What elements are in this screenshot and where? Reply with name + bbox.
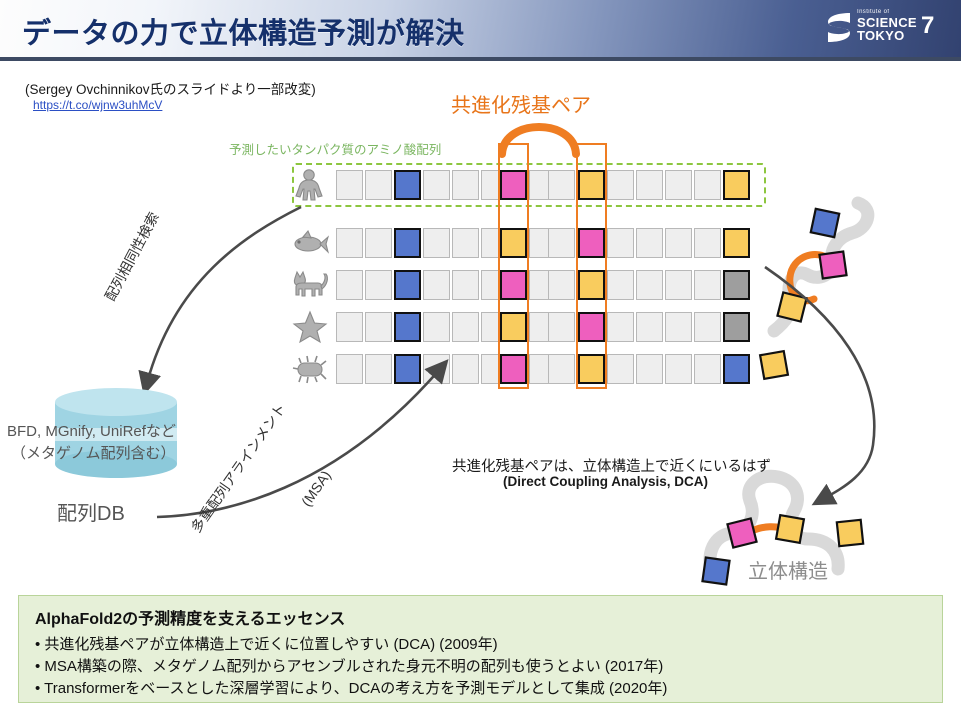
highlight-column-left	[498, 143, 529, 389]
msa-cell	[423, 312, 450, 342]
msa-cell	[636, 312, 663, 342]
summary-bullet: • 共進化残基ペアが立体構造上で近くに位置しやすい (DCA) (2009年)	[35, 634, 926, 656]
msa-cell	[365, 228, 392, 258]
msa-cell	[548, 270, 575, 300]
structure-label: 立体構造	[748, 555, 828, 584]
slide-canvas: データの力で立体構造予測が解決 Institute of SCIENCE TOK…	[0, 0, 961, 721]
dca-acronym: (Direct Coupling Analysis, DCA)	[503, 474, 708, 489]
logo-institute-text: Institute of	[857, 9, 917, 15]
msa-cell	[665, 170, 692, 200]
highlight-column-right	[576, 143, 607, 389]
msa-cell	[394, 228, 421, 258]
msa-cell	[336, 170, 363, 200]
residue-pink	[727, 518, 756, 547]
logo-tokyo-text: TOKYO	[857, 29, 917, 42]
msa-cell	[452, 170, 479, 200]
msa-cell	[336, 228, 363, 258]
msa-cell	[548, 312, 575, 342]
msa-cell	[452, 228, 479, 258]
msa-cell	[665, 354, 692, 384]
residue-yellow	[837, 520, 863, 546]
msa-cell	[636, 228, 663, 258]
institute-logo: Institute of SCIENCE TOKYO	[826, 9, 902, 47]
msa-cell	[636, 270, 663, 300]
msa-cell	[665, 270, 692, 300]
attribution-link[interactable]: https://t.co/wjnw3uhMcV	[33, 98, 162, 112]
msa-cell	[365, 270, 392, 300]
msa-cell	[336, 270, 363, 300]
residue-blue	[702, 557, 729, 584]
database-contents-line1: BFD, MGnify, UniRefなど	[7, 420, 176, 441]
msa-cell	[423, 228, 450, 258]
msa-cell	[452, 312, 479, 342]
msa-cell	[607, 170, 634, 200]
msa-cell	[452, 270, 479, 300]
attribution-credit: (Sergey Ovchinnikov氏のスライドより一部改変)	[25, 78, 316, 98]
science-tokyo-s-mark	[826, 11, 852, 44]
msa-cell	[423, 170, 450, 200]
msa-cell	[365, 170, 392, 200]
msa-cell	[548, 228, 575, 258]
msa-cell	[636, 354, 663, 384]
dca-description: 共進化残基ペアは、立体構造上で近くにいるはず	[452, 455, 771, 476]
msa-cell	[607, 312, 634, 342]
msa-cell	[607, 270, 634, 300]
summary-title: AlphaFold2の予測精度を支えるエッセンス	[35, 605, 926, 629]
msa-cell	[394, 312, 421, 342]
msa-cell	[452, 354, 479, 384]
msa-cell	[394, 170, 421, 200]
page-title: データの力で立体構造予測が解決	[22, 10, 465, 52]
msa-cell	[548, 170, 575, 200]
human-icon	[291, 168, 329, 202]
header-divider	[0, 57, 961, 61]
summary-bullet: • MSA構築の際、メタゲノム配列からアセンブルされた身元不明の配列も使うとよい…	[35, 656, 926, 678]
msa-cell	[423, 270, 450, 300]
msa-cell	[365, 312, 392, 342]
msa-cell	[336, 312, 363, 342]
summary-box: AlphaFold2の予測精度を支えるエッセンス • 共進化残基ペアが立体構造上…	[18, 595, 943, 703]
summary-bullet: • Transformerをベースとした深層学習により、DCAの考え方を予測モデ…	[35, 678, 926, 700]
msa-cell	[607, 354, 634, 384]
database-name: 配列DB	[57, 497, 125, 526]
msa-cell	[665, 228, 692, 258]
query-sequence-label: 予測したいタンパク質のアミノ酸配列	[229, 139, 441, 158]
database-contents-line2: （メタゲノム配列含む）	[11, 442, 176, 463]
residue-yellow	[776, 515, 804, 543]
page-number: 7	[921, 12, 934, 40]
msa-cell	[607, 228, 634, 258]
msa-cell	[394, 270, 421, 300]
residue-blue	[811, 209, 839, 237]
logo-wordmark: Institute of SCIENCE TOKYO	[857, 9, 917, 42]
msa-cell	[548, 354, 575, 384]
msa-cell	[665, 312, 692, 342]
msa-cell	[636, 170, 663, 200]
